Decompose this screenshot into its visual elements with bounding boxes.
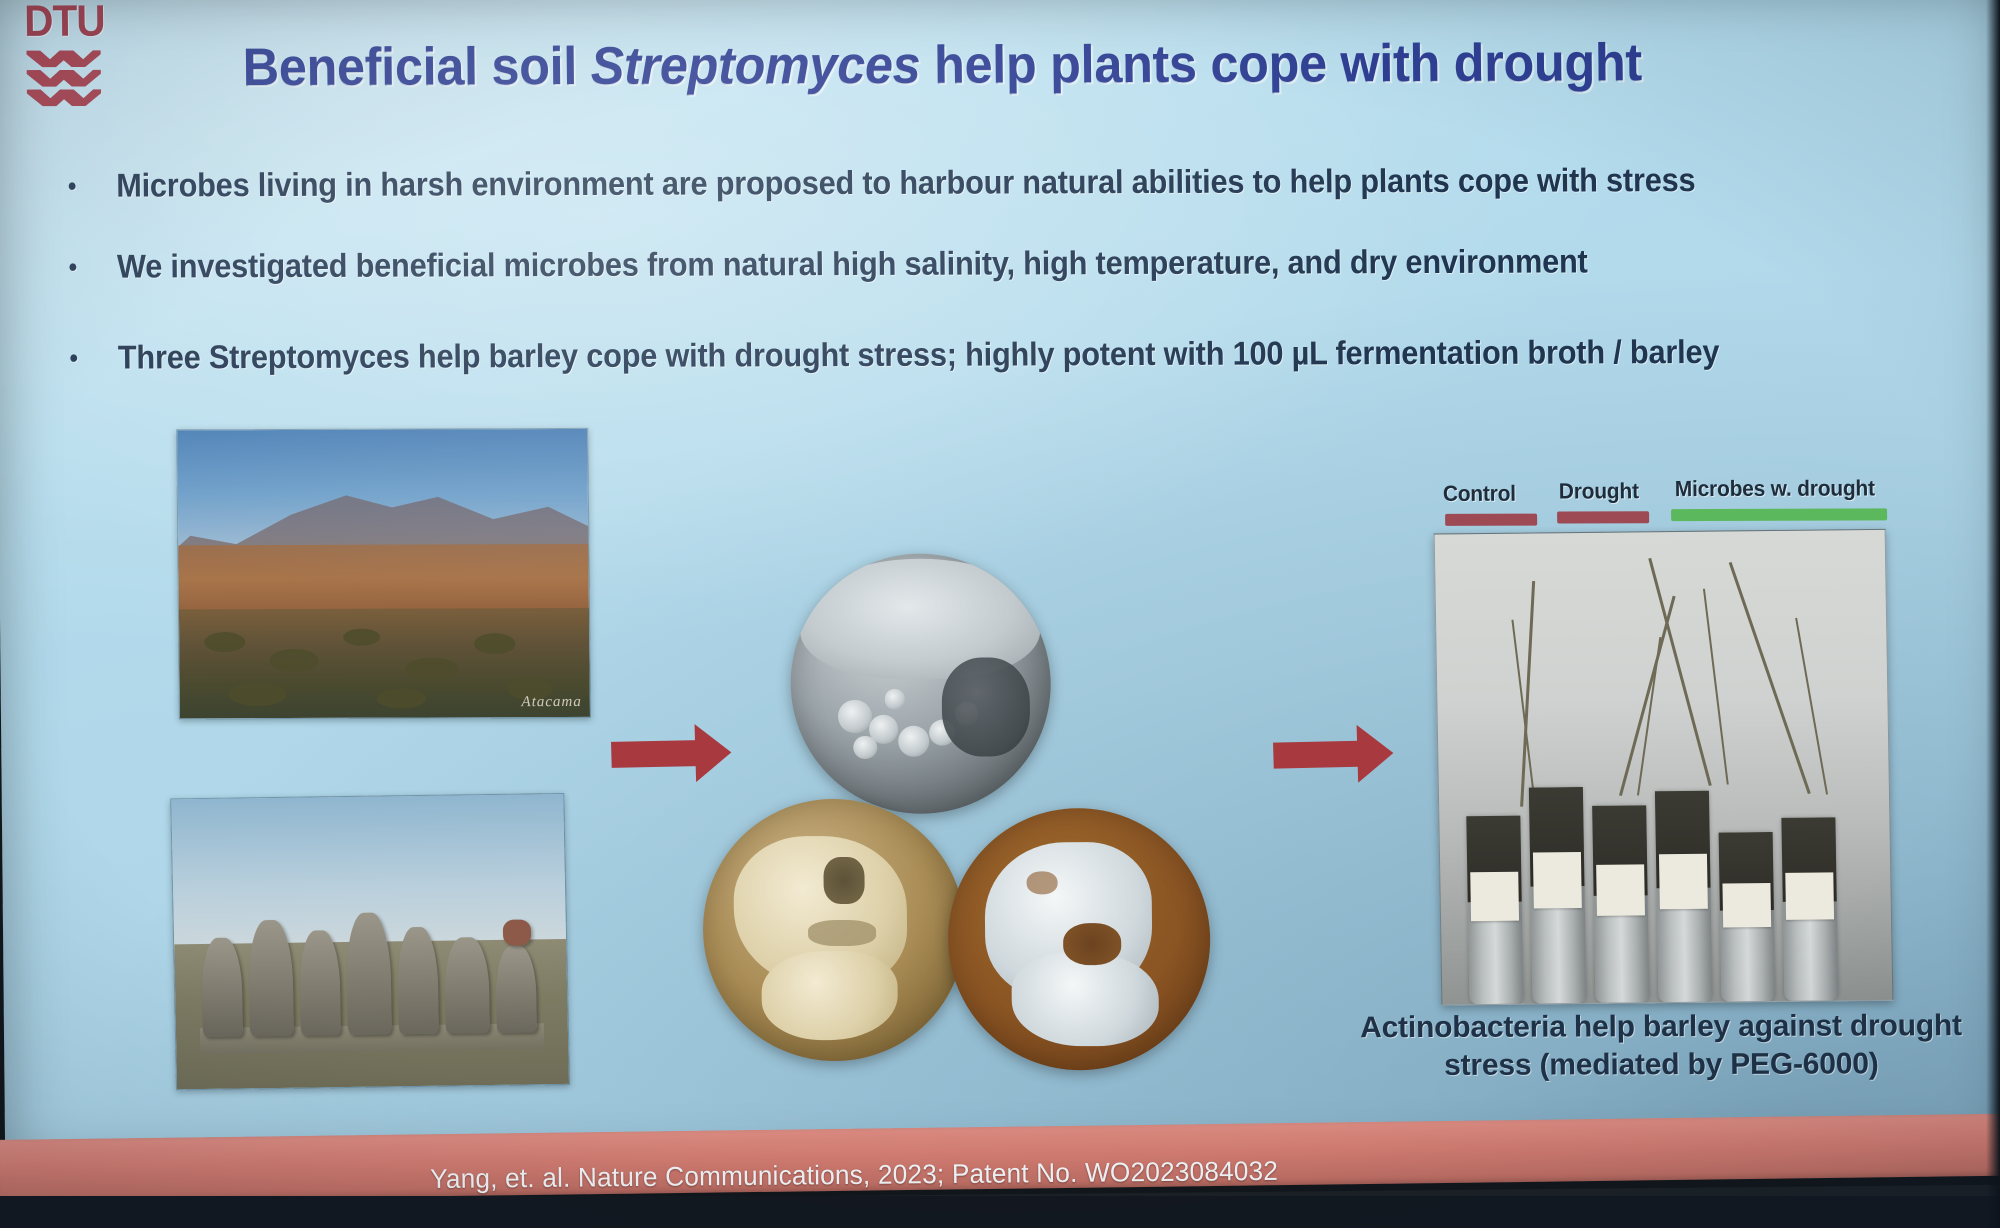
legend-bar-microbes-w-drought <box>1671 508 1887 521</box>
screenshot-root: DTU Beneficial soil Streptomyces help pl… <box>0 0 2000 1228</box>
bullet-text: Three Streptomyces help barley cope with… <box>118 333 1720 376</box>
moai-scene <box>171 794 569 1089</box>
tube-label <box>1533 852 1581 909</box>
desert-landscape-photo: Atacama <box>176 428 591 719</box>
bullet-item-1: •Microbes living in harsh environment ar… <box>68 161 1798 205</box>
bullet-marker: • <box>68 252 117 283</box>
arrow-shaft <box>611 740 698 768</box>
process-arrow-2 <box>1273 724 1395 784</box>
bullet-text: We investigated beneficial microbes from… <box>117 242 1588 284</box>
barley-seedlings-tubes-photo <box>1434 529 1894 1006</box>
legend-label-control: Control <box>1443 481 1516 507</box>
tube-label <box>1786 872 1834 920</box>
legend-bar-drought <box>1557 511 1649 523</box>
arrow-head <box>695 723 733 782</box>
dtu-logo-text: DTU <box>24 0 113 44</box>
photo-watermark: Atacama <box>521 694 581 711</box>
bullet-item-2: •We investigated beneficial microbes fro… <box>68 242 1798 286</box>
easter-island-moai-photo <box>170 793 570 1090</box>
petri-dish-white-colony <box>947 808 1212 1071</box>
tube-label <box>1470 872 1518 921</box>
arrow-head <box>1357 724 1395 783</box>
legend-label-microbes-w-drought: Microbes w. drought <box>1675 475 1875 502</box>
figure-caption: Actinobacteria help barley against droug… <box>1356 1007 1967 1085</box>
caption-line-1: Actinobacteria help barley against droug… <box>1356 1007 1966 1047</box>
title-part-1: Beneficial soil <box>242 37 591 97</box>
photo-dark-border-right <box>1986 0 2000 1228</box>
petri-dish-gray-colony <box>789 553 1051 814</box>
legend-label-drought: Drought <box>1559 478 1639 504</box>
caption-line-2: stress (mediated by PEG-6000) <box>1356 1045 1966 1085</box>
legend-bar-control <box>1445 514 1537 526</box>
tube-label <box>1596 864 1644 916</box>
petri-dish-cream-colony <box>702 799 967 1062</box>
bullet-item-3: •Three Streptomyces help barley cope wit… <box>69 333 1799 377</box>
bullet-text: Microbes living in harsh environment are… <box>116 161 1696 204</box>
dtu-chevron-icon <box>25 48 104 110</box>
presentation-slide: DTU Beneficial soil Streptomyces help pl… <box>0 0 2000 1172</box>
tube-label <box>1723 883 1771 927</box>
dtu-chevron-mark <box>25 48 106 110</box>
desert-scene <box>177 429 590 718</box>
tube-label <box>1659 854 1707 909</box>
dtu-logo: DTU <box>24 0 121 110</box>
process-arrow-1 <box>611 723 733 783</box>
title-part-2: help plants cope with drought <box>920 33 1642 95</box>
photo-dark-border-bottom <box>0 1196 2000 1228</box>
slide-title: Beneficial soil Streptomyces help plants… <box>242 32 1782 98</box>
bullet-marker: • <box>69 343 118 374</box>
bullet-marker: • <box>68 171 117 202</box>
arrow-shaft <box>1273 741 1360 769</box>
title-italic-genus: Streptomyces <box>590 36 920 96</box>
